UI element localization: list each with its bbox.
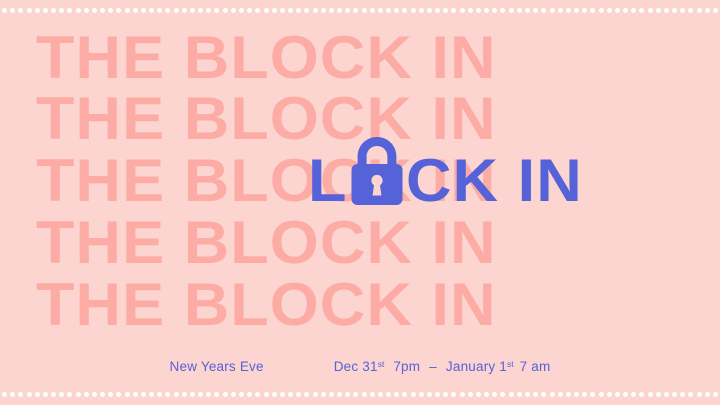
rail-dot [705,392,710,397]
rail-dot [394,392,399,397]
rail-dot [272,392,277,397]
rail-dot [574,392,579,397]
rail-dot [525,392,530,397]
rail-dot [411,392,416,397]
rail-dot [67,392,72,397]
rail-dot [533,392,538,397]
rail-dot [92,392,97,397]
rail-dot [623,392,628,397]
rail-dot [386,392,391,397]
rail-dot [100,392,105,397]
rail-dot [582,392,587,397]
rail-dot [108,392,113,397]
rail-dot [345,392,350,397]
rail-dot [125,392,130,397]
lock-icon [348,134,406,208]
headline-row-5: THE BLOCK IN [36,274,720,336]
rail-dot [500,392,505,397]
rail-dot [631,392,636,397]
rail-dot [84,392,89,397]
rail-dot [697,392,702,397]
rail-dot [329,392,334,397]
footer-start-time: 7pm [393,359,420,374]
rail-dot [648,392,653,397]
highlight-text-before-lock: L [308,150,348,212]
rail-dot [468,392,473,397]
footer-dash: – [429,359,437,374]
rail-dot [680,392,685,397]
rail-dot [288,392,293,397]
footer-datetime: Dec 31st7pm–January 1st7 am [334,359,551,374]
rail-dot [239,392,244,397]
rail-dot [607,392,612,397]
rail-dot [427,392,432,397]
rail-dot [116,392,121,397]
rail-dot [18,392,23,397]
rail-dot [443,392,448,397]
rail-dot [214,392,219,397]
rail-dot [639,392,644,397]
rail-dot [419,392,424,397]
rail-dot [223,392,228,397]
headline-row-4: THE BLOCK IN [36,212,720,274]
rail-dot [435,392,440,397]
rail-dot [165,392,170,397]
rail-dot [378,392,383,397]
rail-dot [337,392,342,397]
rail-dot [484,392,489,397]
footer-end-ordinal: st [507,359,514,369]
rail-dot [59,392,64,397]
footer-start-ordinal: st [378,359,385,369]
rail-dot [672,392,677,397]
footer-details: New Years Eve Dec 31st7pm–January 1st7 a… [0,355,720,377]
rail-dot [149,392,154,397]
lock-in-highlight: L CK IN [308,150,574,212]
rail-dot [280,392,285,397]
bottom-dotted-rail [0,389,720,399]
rail-dot [182,392,187,397]
footer-end-time: 7 am [520,359,551,374]
rail-dot [664,392,669,397]
footer-start-date: Dec 31 [334,359,378,374]
rail-dot [264,392,269,397]
rail-dot [157,392,162,397]
rail-dot [190,392,195,397]
lock-letter-slot [346,150,406,212]
rail-dot [304,392,309,397]
rail-dot [370,392,375,397]
rail-dot [599,392,604,397]
rail-dot [43,392,48,397]
rail-dot [451,392,456,397]
rail-dot [353,392,358,397]
footer-occasion: New Years Eve [170,359,264,374]
rail-dot [509,392,514,397]
rail-dot [174,392,179,397]
rail-dot [231,392,236,397]
rail-dot [590,392,595,397]
rail-dot [27,392,32,397]
rail-dot [517,392,522,397]
rail-dot [133,392,138,397]
rail-dot [558,392,563,397]
rail-dot [402,392,407,397]
rail-dot [198,392,203,397]
rail-dot [10,392,15,397]
rail-dot [476,392,481,397]
rail-dot [51,392,56,397]
rail-dot [566,392,571,397]
rail-dot [460,392,465,397]
rail-dot [141,392,146,397]
rail-dot [76,392,81,397]
rail-dot [541,392,546,397]
rail-dot [713,392,718,397]
rail-dot [2,392,7,397]
rail-dot [615,392,620,397]
rail-dot [321,392,326,397]
poster-canvas: THE BLOCK IN THE BLOCK IN THE BLOCK IN T… [0,0,720,405]
rail-dot [206,392,211,397]
highlight-text-after-lock: CK IN [406,150,583,212]
rail-dot [656,392,661,397]
headline-row-1: THE BLOCK IN [36,27,720,89]
rail-dot [313,392,318,397]
rail-dot [247,392,252,397]
rail-dot [492,392,497,397]
rail-dot [35,392,40,397]
rail-dot [362,392,367,397]
rail-dot [688,392,693,397]
rail-dot [296,392,301,397]
footer-end-date: January 1 [446,359,507,374]
rail-dot [550,392,555,397]
rail-dot [255,392,260,397]
